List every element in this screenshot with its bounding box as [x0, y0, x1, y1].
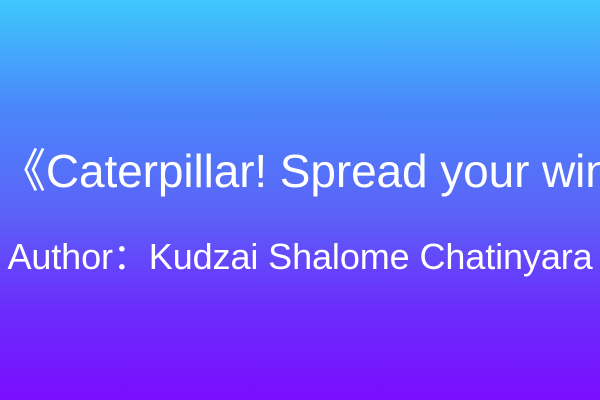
page-title: 《Caterpillar! Spread your wings》	[0, 143, 600, 199]
author-line: Author：Kudzai Shalome Chatinyara	[0, 234, 600, 280]
title-slide: 《Caterpillar! Spread your wings》 Author：…	[0, 0, 600, 400]
